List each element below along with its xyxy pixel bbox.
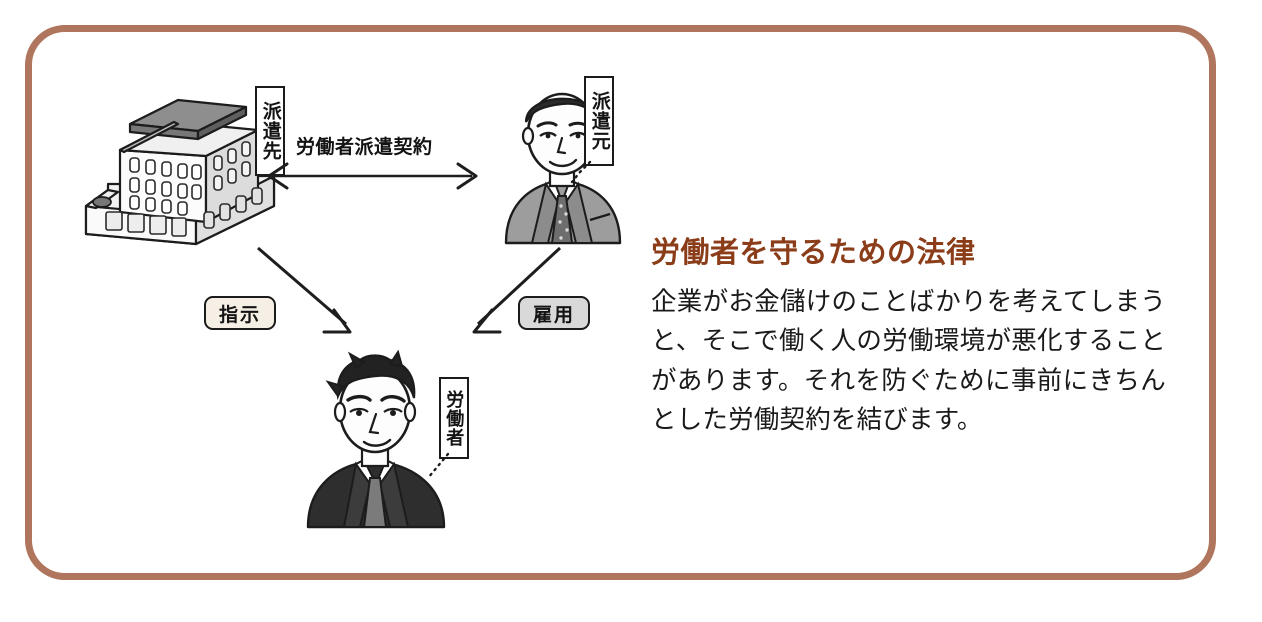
tag-employment: 雇用 <box>518 296 590 330</box>
label-dispatch-contract: 労働者派遣契約 <box>296 132 433 159</box>
office-building-icon <box>78 84 283 244</box>
leader-line-worker <box>414 452 454 486</box>
contract-double-arrow-icon <box>255 160 490 192</box>
label-dispatch-source: 派遣元 <box>584 76 614 166</box>
label-worker: 労働者 <box>439 377 469 459</box>
text-panel: 労働者を守るための法律 企業がお金儲けのことばかりを考えてしまうと、そこで働く人… <box>651 236 1166 441</box>
panel-body: 企業がお金儲けのことばかりを考えてしまうと、そこで働く人の労働環境が悪化すること… <box>651 283 1166 441</box>
dispatch-relationship-diagram: 派遣先 労働者派遣契約 <box>0 0 640 560</box>
worker-person-icon <box>298 352 458 527</box>
label-dispatch-source-text: 派遣元 <box>589 91 608 151</box>
label-dispatch-destination-text: 派遣先 <box>260 101 279 161</box>
page-canvas: 派遣先 労働者派遣契約 <box>0 0 1262 622</box>
leader-line-dispatch-source <box>560 160 600 190</box>
tag-instruction: 指示 <box>204 296 276 330</box>
panel-heading: 労働者を守るための法律 <box>651 236 1166 271</box>
label-worker-text: 労働者 <box>445 390 463 447</box>
